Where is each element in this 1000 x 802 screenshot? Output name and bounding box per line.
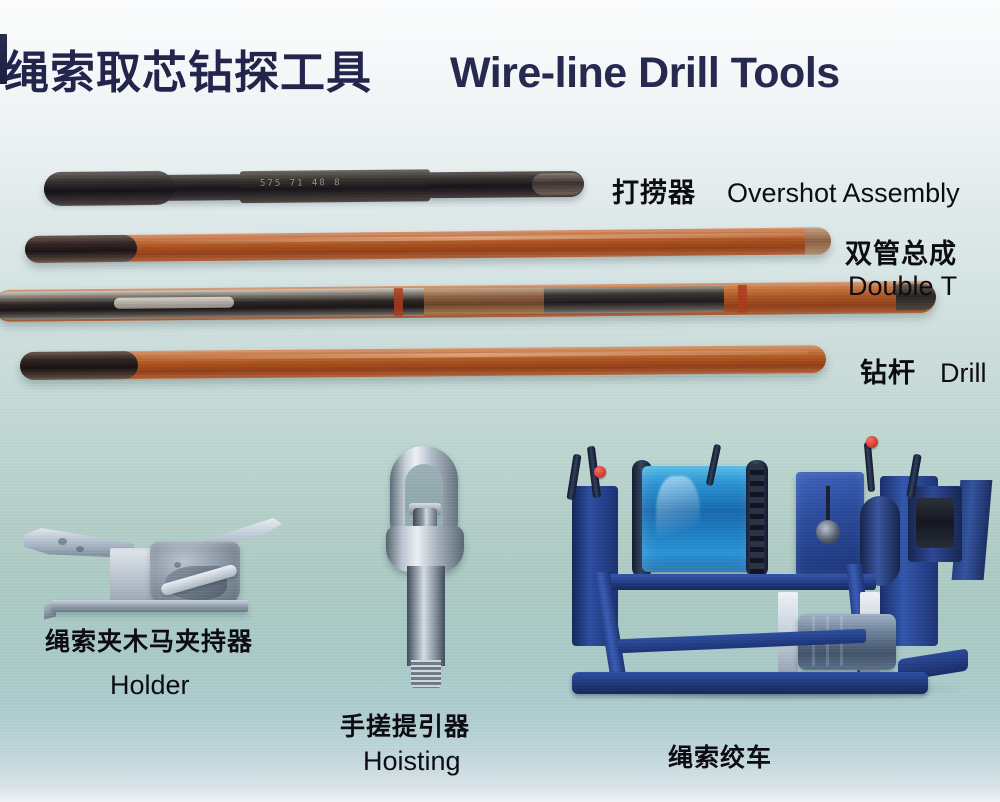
page-title-cn: 绳索取芯钻探工具 bbox=[4, 50, 372, 95]
label-drill-rod-en: Drill bbox=[940, 359, 987, 389]
label-wire-line-winch-cn: 绳索绞车 bbox=[668, 744, 772, 772]
label-drill-rod-cn: 钻杆 bbox=[860, 359, 916, 389]
label-overshot-assembly-en: Overshot Assembly bbox=[727, 179, 960, 209]
winch-cable-drum bbox=[642, 466, 754, 572]
cutaway-core-sample bbox=[114, 297, 234, 309]
holder-bolt-hole-3 bbox=[174, 562, 181, 568]
overshot-tip bbox=[532, 173, 584, 195]
product-photo-hoisting bbox=[378, 446, 474, 690]
winch-frame-top-rail bbox=[608, 574, 876, 590]
product-photo-double-tube bbox=[25, 227, 831, 263]
label-holder-cn: 绳索夹木马夹持器 bbox=[45, 628, 253, 656]
product-photo-holder bbox=[22, 508, 280, 620]
winch-lever-knob-right bbox=[866, 436, 878, 448]
cutaway-coupling bbox=[424, 288, 544, 315]
winch-control-lever-4 bbox=[864, 442, 875, 492]
product-photo-double-tube-cutaway bbox=[0, 281, 936, 322]
label-hoisting-cn: 手搓提引器 bbox=[340, 713, 470, 741]
poster-canvas: 绳索取芯钻探工具 Wire-line Drill Tools 575 71 48… bbox=[0, 0, 1000, 802]
winch-handwheel bbox=[816, 520, 840, 544]
drill-rod-highlight bbox=[138, 350, 808, 360]
winch-belt-pulley bbox=[860, 496, 900, 586]
label-overshot-assembly-cn: 打捞器 bbox=[612, 179, 696, 209]
cutaway-latch-body bbox=[544, 286, 724, 314]
drill-rod-end-cap bbox=[804, 345, 826, 373]
poster-header: 绳索取芯钻探工具 Wire-line Drill Tools bbox=[0, 24, 1000, 94]
holder-base-plate bbox=[52, 600, 248, 612]
cutaway-band-1 bbox=[394, 288, 403, 316]
winch-lever-knob-left bbox=[594, 466, 606, 478]
label-double-tube-en: Double T bbox=[848, 272, 957, 302]
overshot-head-segment bbox=[44, 171, 174, 206]
label-hoisting-en: Hoisting bbox=[363, 747, 461, 777]
winch-skid-base bbox=[572, 672, 928, 694]
page-title-en: Wire-line Drill Tools bbox=[450, 52, 840, 95]
rod-stamp-marking: 575 71 48 8 bbox=[260, 178, 342, 189]
product-photo-wire-line-winch bbox=[560, 424, 1000, 724]
double-tube-highlight bbox=[135, 232, 811, 243]
label-double-tube-cn: 双管总成 bbox=[845, 240, 957, 270]
double-tube-end-cap bbox=[805, 227, 831, 254]
cutaway-band-2 bbox=[738, 285, 747, 313]
winch-spool-core bbox=[916, 498, 954, 548]
hoisting-shaft bbox=[407, 566, 445, 666]
double-tube-head-cap bbox=[25, 235, 137, 263]
product-photo-drill-rod bbox=[20, 345, 826, 380]
holder-bolt-hole-2 bbox=[76, 546, 84, 552]
hoisting-threaded-end bbox=[411, 660, 441, 688]
winch-drive-chain bbox=[750, 464, 764, 580]
holder-bolt-hole-1 bbox=[58, 538, 67, 545]
winch-drum-highlight bbox=[656, 476, 700, 562]
drill-rod-head-cap bbox=[20, 351, 138, 380]
product-photo-overshot-assembly: 575 71 48 8 bbox=[44, 171, 584, 202]
label-holder-en: Holder bbox=[110, 671, 190, 701]
